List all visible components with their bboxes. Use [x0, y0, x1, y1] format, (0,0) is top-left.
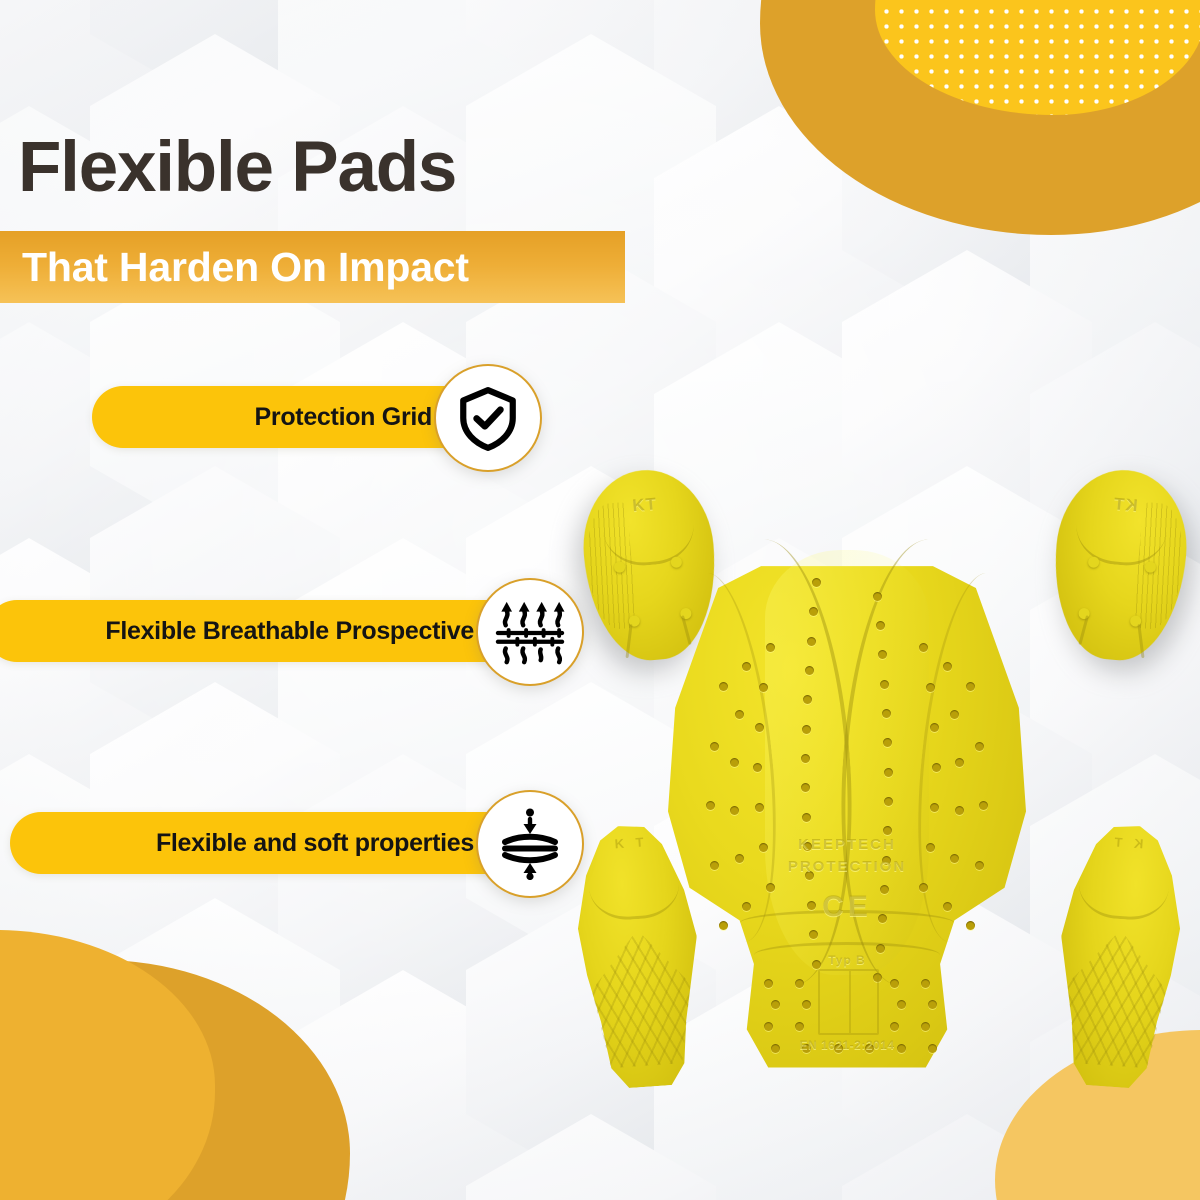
- perforation-hole: [764, 1022, 773, 1031]
- feature-protection-grid[interactable]: Protection Grid: [92, 364, 542, 472]
- perforation-hole: [975, 861, 984, 870]
- perforation-hole: [807, 901, 816, 910]
- perforation-hole: [802, 1000, 811, 1009]
- perforation-hole: [921, 979, 930, 988]
- subtitle-text: That Harden On Impact: [0, 244, 469, 291]
- perforation-hole: [880, 680, 889, 689]
- feature-breathable[interactable]: Flexible Breathable Prospective: [0, 578, 584, 686]
- perforation-hole: [932, 763, 941, 772]
- perforation-hole: [873, 592, 882, 601]
- perforation-hole: [766, 883, 775, 892]
- perforation-hole: [919, 883, 928, 892]
- perforation-hole: [897, 1044, 906, 1053]
- perforation-hole: [876, 621, 885, 630]
- perforation-hole: [801, 783, 810, 792]
- perforation-hole: [955, 806, 964, 815]
- perforation-hole: [735, 710, 744, 719]
- perforation-hole: [812, 960, 821, 969]
- perforation-hole: [950, 710, 959, 719]
- perforation-hole: [943, 662, 952, 671]
- perforation-hole: [975, 742, 984, 751]
- feature-pill: Flexible Breathable Prospective: [0, 600, 540, 662]
- perforation-hole: [883, 826, 892, 835]
- perforation-hole: [921, 1022, 930, 1031]
- perforation-hole: [771, 1000, 780, 1009]
- perforation-hole: [890, 979, 899, 988]
- perforation-hole: [926, 843, 935, 852]
- perforation-hole: [795, 979, 804, 988]
- perforation-hole: [955, 758, 964, 767]
- perforation-hole: [807, 637, 816, 646]
- perforation-hole: [710, 742, 719, 751]
- perforation-hole: [706, 801, 715, 810]
- perforation-hole: [766, 643, 775, 652]
- shoulder-pad-right: KT: [1047, 465, 1193, 666]
- perforation-hole: [753, 763, 762, 772]
- shield-check-icon: [434, 364, 542, 472]
- perforation-hole: [759, 683, 768, 692]
- certification-pictogram-box: [818, 969, 879, 1034]
- perforation-hole: [803, 842, 812, 851]
- perforation-hole: [884, 768, 893, 777]
- perforation-hole: [928, 1044, 937, 1053]
- breathability-arrows-icon: [476, 578, 584, 686]
- perforation-hole: [884, 797, 893, 806]
- perforation-hole: [950, 854, 959, 863]
- feature-label: Flexible and soft properties: [10, 829, 480, 858]
- feature-label: Protection Grid: [92, 403, 438, 432]
- perforation-hole: [890, 1022, 899, 1031]
- perforation-hole: [742, 902, 751, 911]
- perforation-hole: [755, 803, 764, 812]
- perforation-hole: [930, 723, 939, 732]
- perforation-hole: [764, 979, 773, 988]
- perforation-hole: [802, 1044, 811, 1053]
- subtitle-banner: That Harden On Impact: [0, 231, 625, 303]
- perforation-hole: [812, 578, 821, 587]
- perforation-hole: [719, 921, 728, 930]
- perforation-hole: [809, 607, 818, 616]
- perforation-hole: [926, 683, 935, 692]
- perforation-hole: [919, 643, 928, 652]
- perforation-hole: [882, 856, 891, 865]
- perforation-hole: [882, 709, 891, 718]
- feature-label: Flexible Breathable Prospective: [0, 617, 480, 646]
- perforation-hole: [710, 861, 719, 870]
- perforation-hole: [802, 725, 811, 734]
- compression-flex-icon: [476, 790, 584, 898]
- elbow-pad-right: K T: [1051, 821, 1187, 1091]
- perforation-hole: [730, 806, 739, 815]
- perforation-hole: [805, 666, 814, 675]
- perforation-hole: [943, 902, 952, 911]
- perforation-hole: [928, 1000, 937, 1009]
- perforation-hole: [865, 1044, 874, 1053]
- perforation-hole: [876, 944, 885, 953]
- perforation-hole: [805, 871, 814, 880]
- perforation-hole: [755, 723, 764, 732]
- perforation-hole: [759, 843, 768, 852]
- feature-soft-flexible[interactable]: Flexible and soft properties: [10, 790, 584, 898]
- perforation-hole: [803, 695, 812, 704]
- perforation-hole: [880, 885, 889, 894]
- perforation-hole: [735, 854, 744, 863]
- perforation-hole: [802, 813, 811, 822]
- perforation-hole: [878, 650, 887, 659]
- perforation-hole: [834, 1044, 843, 1053]
- perforation-hole: [897, 1000, 906, 1009]
- perforation-hole: [966, 921, 975, 930]
- feature-pill: Flexible and soft properties: [10, 812, 540, 874]
- perforation-hole: [979, 801, 988, 810]
- back-protector: KEEPTECH PROTECTION CE Typ B EN 1621-2:2…: [668, 528, 1026, 1073]
- perforation-hole: [795, 1022, 804, 1031]
- perforation-hole: [719, 682, 728, 691]
- perforation-hole: [742, 662, 751, 671]
- perforation-hole: [809, 930, 818, 939]
- perforation-hole: [883, 738, 892, 747]
- product-banner: KT KT K T: [0, 0, 1200, 1200]
- perforation-hole: [801, 754, 810, 763]
- perforation-hole: [878, 914, 887, 923]
- perforation-hole: [966, 682, 975, 691]
- perforation-hole: [730, 758, 739, 767]
- perforation-hole: [930, 803, 939, 812]
- perforation-hole: [771, 1044, 780, 1053]
- page-title: Flexible Pads: [18, 132, 456, 203]
